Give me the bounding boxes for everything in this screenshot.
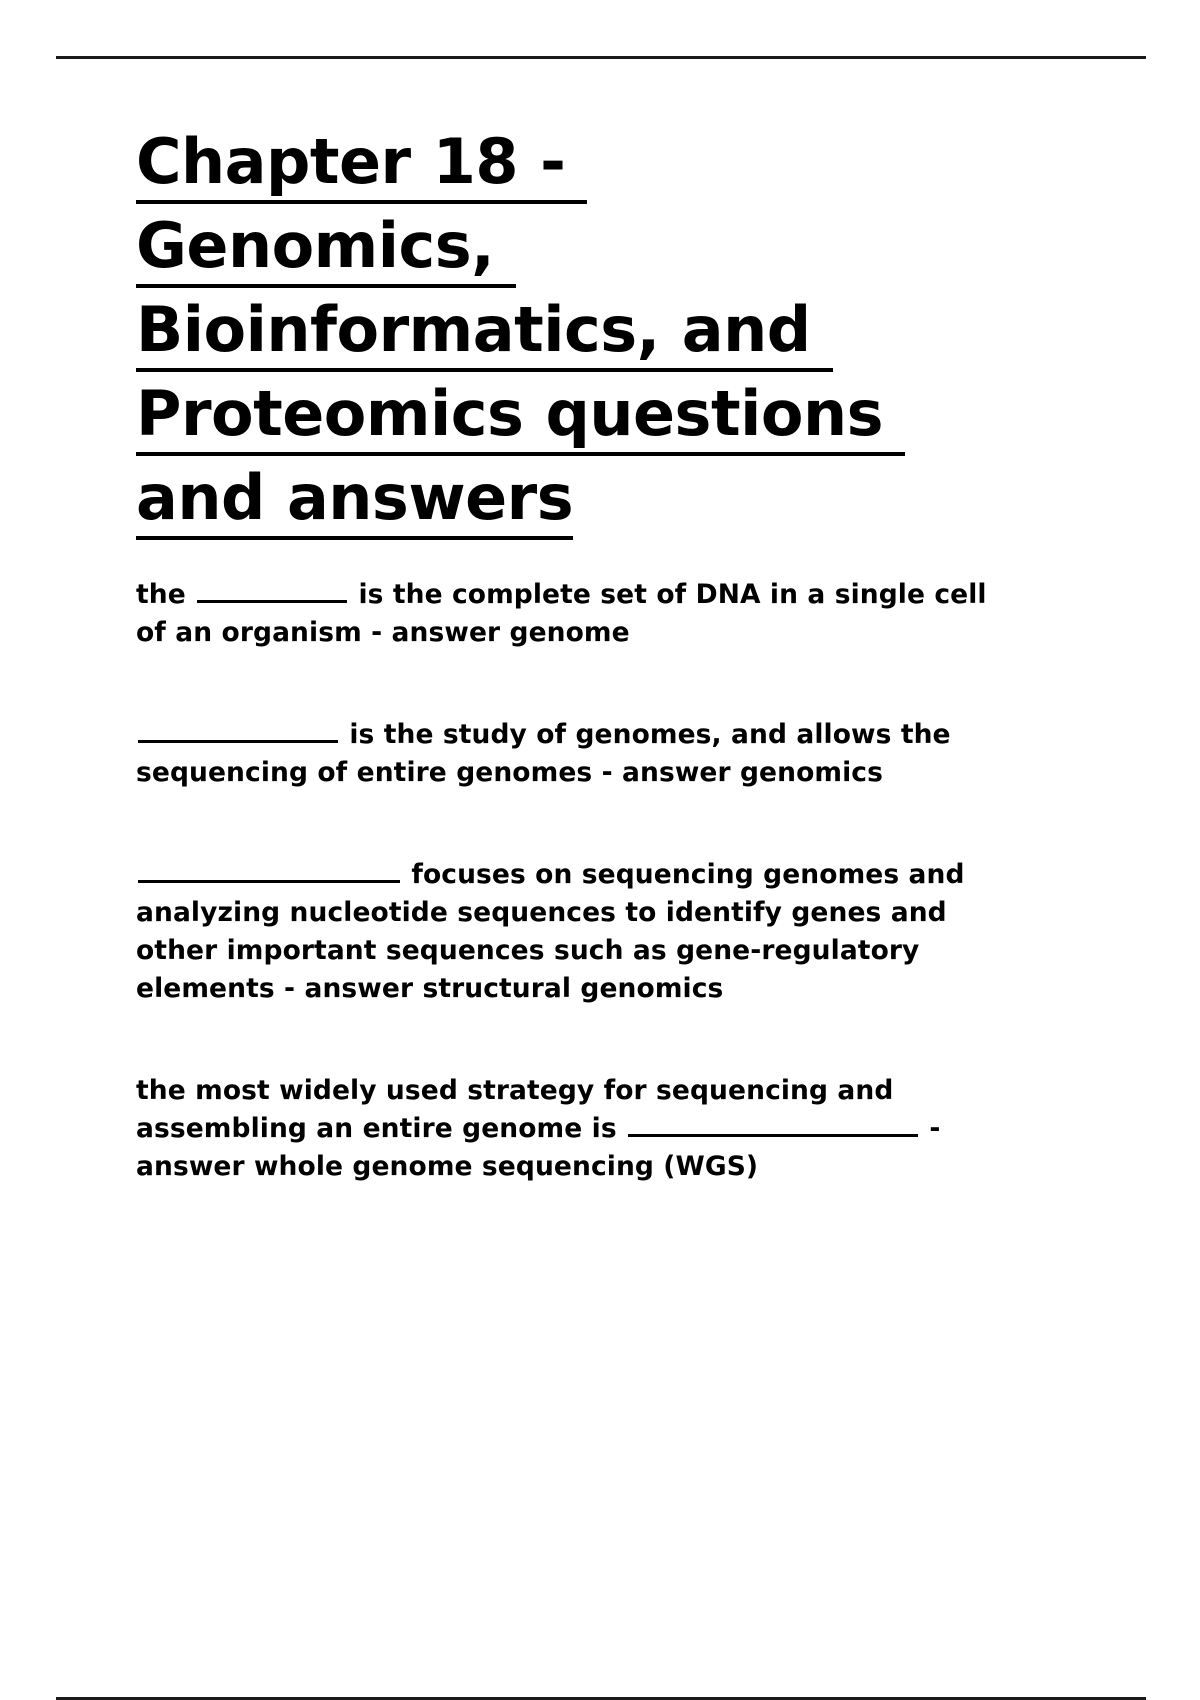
qa-block-1: the is the complete set of DNA in a sing…	[136, 576, 1016, 652]
page-header-rule	[56, 56, 1146, 59]
qa-spacer-2	[136, 792, 1016, 856]
title-line-2: Genomics,	[136, 204, 1016, 288]
page-title: Chapter 18 - Genomics, Bioinformatics, a…	[136, 120, 1016, 540]
qa-spacer-3	[136, 1008, 1016, 1072]
qa-spacer-1	[136, 652, 1016, 716]
title-line-3: Bioinformatics, and	[136, 288, 1016, 372]
qa-block-1-blank	[197, 579, 347, 603]
qa-block-2: is the study of genomes, and allows the …	[136, 716, 1016, 792]
qa-block-3: focuses on sequencing genomes and analyz…	[136, 856, 1016, 1008]
qa-block-3-blank	[138, 859, 400, 883]
title-line-4: Proteomics questions	[136, 372, 1016, 456]
title-line-5-text: and answers	[136, 461, 573, 540]
title-line-5: and answers	[136, 456, 1016, 540]
document-page: Chapter 18 - Genomics, Bioinformatics, a…	[0, 0, 1200, 1700]
qa-block-1-lead: the	[136, 579, 195, 610]
title-line-2-text: Genomics,	[136, 209, 516, 288]
qa-block-4-blank	[628, 1113, 918, 1137]
title-line-4-text: Proteomics questions	[136, 377, 905, 456]
qa-block-4: the most widely used strategy for sequen…	[136, 1072, 1016, 1186]
title-line-1-text: Chapter 18 -	[136, 125, 587, 204]
qa-block-2-blank	[138, 719, 338, 743]
title-line-3-text: Bioinformatics, and	[136, 293, 833, 372]
title-line-1: Chapter 18 -	[136, 120, 1016, 204]
document-content: Chapter 18 - Genomics, Bioinformatics, a…	[136, 120, 1016, 1186]
